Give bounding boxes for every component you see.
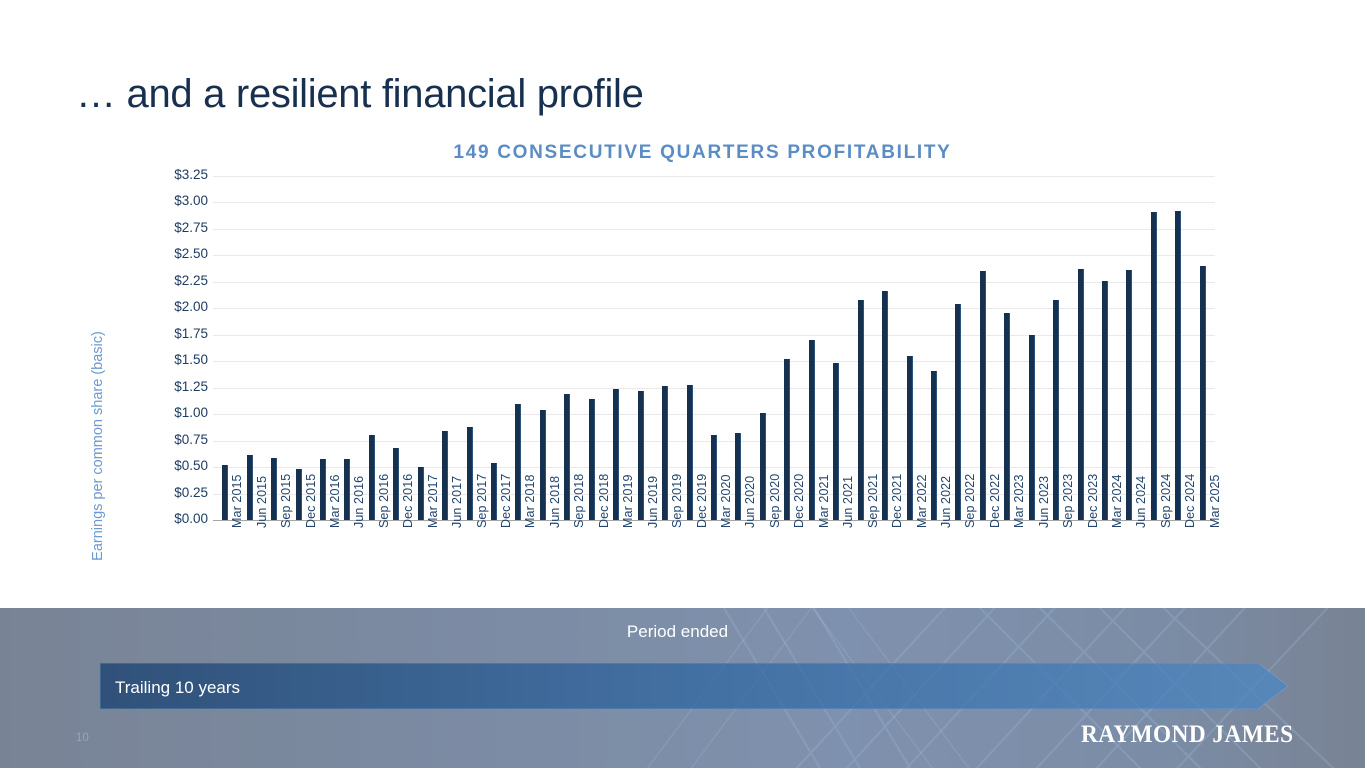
x-axis-tick-label: Sep 2024 <box>1159 474 1173 528</box>
x-axis-tick-label: Mar 2025 <box>1208 474 1222 528</box>
y-axis-tick-label: $2.25 <box>118 273 208 288</box>
chart-container: 149 CONSECUTIVE QUARTERS PROFITABILITY E… <box>0 138 1365 608</box>
gridline <box>213 388 1215 389</box>
gridline <box>213 255 1215 256</box>
bar <box>809 340 815 520</box>
x-axis-tick-label: Dec 2024 <box>1183 474 1197 528</box>
x-axis-tick-label: Sep 2019 <box>670 474 684 528</box>
bar <box>1126 270 1132 520</box>
x-axis-tick-label: Sep 2017 <box>475 474 489 528</box>
page-number: 10 <box>76 732 89 744</box>
bar <box>1200 266 1206 520</box>
x-axis-tick-label: Sep 2020 <box>768 474 782 528</box>
trailing-years-banner <box>100 663 1288 709</box>
x-axis-tick-label: Mar 2018 <box>523 474 537 528</box>
bar <box>760 413 766 520</box>
x-axis-tick-label: Dec 2017 <box>499 474 513 528</box>
bar <box>491 463 497 520</box>
x-axis-tick-label: Jun 2023 <box>1037 476 1051 528</box>
bar <box>418 467 424 520</box>
x-axis-tick-label: Jun 2017 <box>450 476 464 528</box>
gridline <box>213 176 1215 177</box>
y-axis-tick-label: $0.75 <box>118 432 208 447</box>
y-axis-tick-label: $1.25 <box>118 379 208 394</box>
gridline <box>213 202 1215 203</box>
bar <box>638 391 644 520</box>
y-axis-tick-label: $2.75 <box>118 220 208 235</box>
y-axis-tick-label: $0.00 <box>118 511 208 526</box>
raymond-james-logo: RAYMOND JAMES <box>1080 721 1293 749</box>
x-axis-tick-label: Mar 2024 <box>1110 474 1124 528</box>
bar <box>393 448 399 520</box>
x-axis-tick-label: Dec 2019 <box>695 474 709 528</box>
bar <box>858 300 864 520</box>
y-axis-tick-label: $3.00 <box>118 193 208 208</box>
x-axis-tick-label: Mar 2017 <box>426 474 440 528</box>
x-axis-tick-label: Sep 2016 <box>377 474 391 528</box>
x-axis-tick-label: Mar 2015 <box>230 474 244 528</box>
bar <box>735 433 741 520</box>
x-axis-tick-label: Sep 2015 <box>279 474 293 528</box>
y-axis-tick-label: $0.25 <box>118 485 208 500</box>
x-axis-tick-label: Dec 2015 <box>304 474 318 528</box>
y-axis-tick-label: $2.50 <box>118 246 208 261</box>
y-axis-tick-label: $0.50 <box>118 458 208 473</box>
bar <box>907 356 913 520</box>
x-axis-tick-label: Jun 2020 <box>743 476 757 528</box>
bar <box>687 385 693 520</box>
gridline <box>213 361 1215 362</box>
x-axis-tick-label: Dec 2016 <box>401 474 415 528</box>
page-title: … and a resilient financial profile <box>76 72 644 117</box>
bar <box>662 386 668 520</box>
x-axis-tick-label: Sep 2018 <box>572 474 586 528</box>
bar <box>931 371 937 520</box>
bar <box>296 469 302 520</box>
x-axis-tick-label: Sep 2023 <box>1061 474 1075 528</box>
gridline <box>213 282 1215 283</box>
bar <box>613 389 619 520</box>
x-axis-tick-label: Sep 2022 <box>963 474 977 528</box>
footer-band: Period ended Trailing 10 years 10 RAYMON… <box>0 608 1365 768</box>
bar <box>1151 212 1157 520</box>
bar <box>882 291 888 520</box>
bar <box>1029 335 1035 520</box>
bar <box>833 363 839 520</box>
x-axis-tick-label: Jun 2021 <box>841 476 855 528</box>
bar <box>955 304 961 520</box>
x-axis-tick-label: Mar 2023 <box>1012 474 1026 528</box>
x-axis-tick-label: Mar 2021 <box>817 474 831 528</box>
y-axis-tick-label: $1.50 <box>118 352 208 367</box>
x-axis-tick-label: Sep 2021 <box>866 474 880 528</box>
x-axis-tick-label: Jun 2018 <box>548 476 562 528</box>
y-axis-tick-label: $1.00 <box>118 405 208 420</box>
x-axis-tick-label: Jun 2022 <box>939 476 953 528</box>
bar <box>1102 281 1108 520</box>
x-axis-label: Period ended <box>0 622 1365 642</box>
x-axis-tick-label: Dec 2018 <box>597 474 611 528</box>
plot-area: $3.25$3.00$2.75$2.50$2.25$2.00$1.75$1.50… <box>213 176 1215 658</box>
bar <box>1078 269 1084 520</box>
x-axis-tick-label: Jun 2016 <box>352 476 366 528</box>
gridline <box>213 335 1215 336</box>
gridline <box>213 229 1215 230</box>
bar <box>369 435 375 520</box>
y-axis-title: Earnings per common share (basic) <box>90 296 106 596</box>
x-axis-tick-label: Dec 2023 <box>1086 474 1100 528</box>
bar <box>1175 211 1181 520</box>
x-axis-tick-label: Mar 2022 <box>915 474 929 528</box>
chart-title: 149 CONSECUTIVE QUARTERS PROFITABILITY <box>190 142 1215 164</box>
bar <box>442 431 448 520</box>
x-axis-tick-label: Jun 2015 <box>255 476 269 528</box>
bar <box>589 399 595 520</box>
bar <box>515 404 521 520</box>
y-axis-tick-label: $3.25 <box>118 167 208 182</box>
bar <box>564 394 570 520</box>
bar <box>711 435 717 520</box>
x-axis-tick-label: Jun 2024 <box>1134 476 1148 528</box>
bar <box>784 359 790 520</box>
x-axis-tick-label: Mar 2016 <box>328 474 342 528</box>
bar <box>1053 300 1059 520</box>
x-axis-tick-label: Dec 2020 <box>792 474 806 528</box>
x-axis-tick-label: Jun 2019 <box>646 476 660 528</box>
bar <box>320 459 326 520</box>
x-axis-tick-label: Dec 2022 <box>988 474 1002 528</box>
bar <box>980 271 986 520</box>
bar <box>1004 313 1010 520</box>
bar <box>247 455 253 520</box>
gridline <box>213 308 1215 309</box>
y-axis-tick-label: $1.75 <box>118 326 208 341</box>
bar <box>467 427 473 520</box>
bar <box>344 459 350 520</box>
y-axis-tick-label: $2.00 <box>118 299 208 314</box>
x-axis-tick-label: Dec 2021 <box>890 474 904 528</box>
plot-inner: $3.25$3.00$2.75$2.50$2.25$2.00$1.75$1.50… <box>213 176 1215 520</box>
bar <box>540 410 546 520</box>
x-axis-tick-label: Mar 2019 <box>621 474 635 528</box>
trailing-years-label: Trailing 10 years <box>115 678 240 698</box>
bar <box>271 458 277 520</box>
bar <box>222 465 228 520</box>
gridline <box>213 414 1215 415</box>
x-axis-tick-label: Mar 2020 <box>719 474 733 528</box>
